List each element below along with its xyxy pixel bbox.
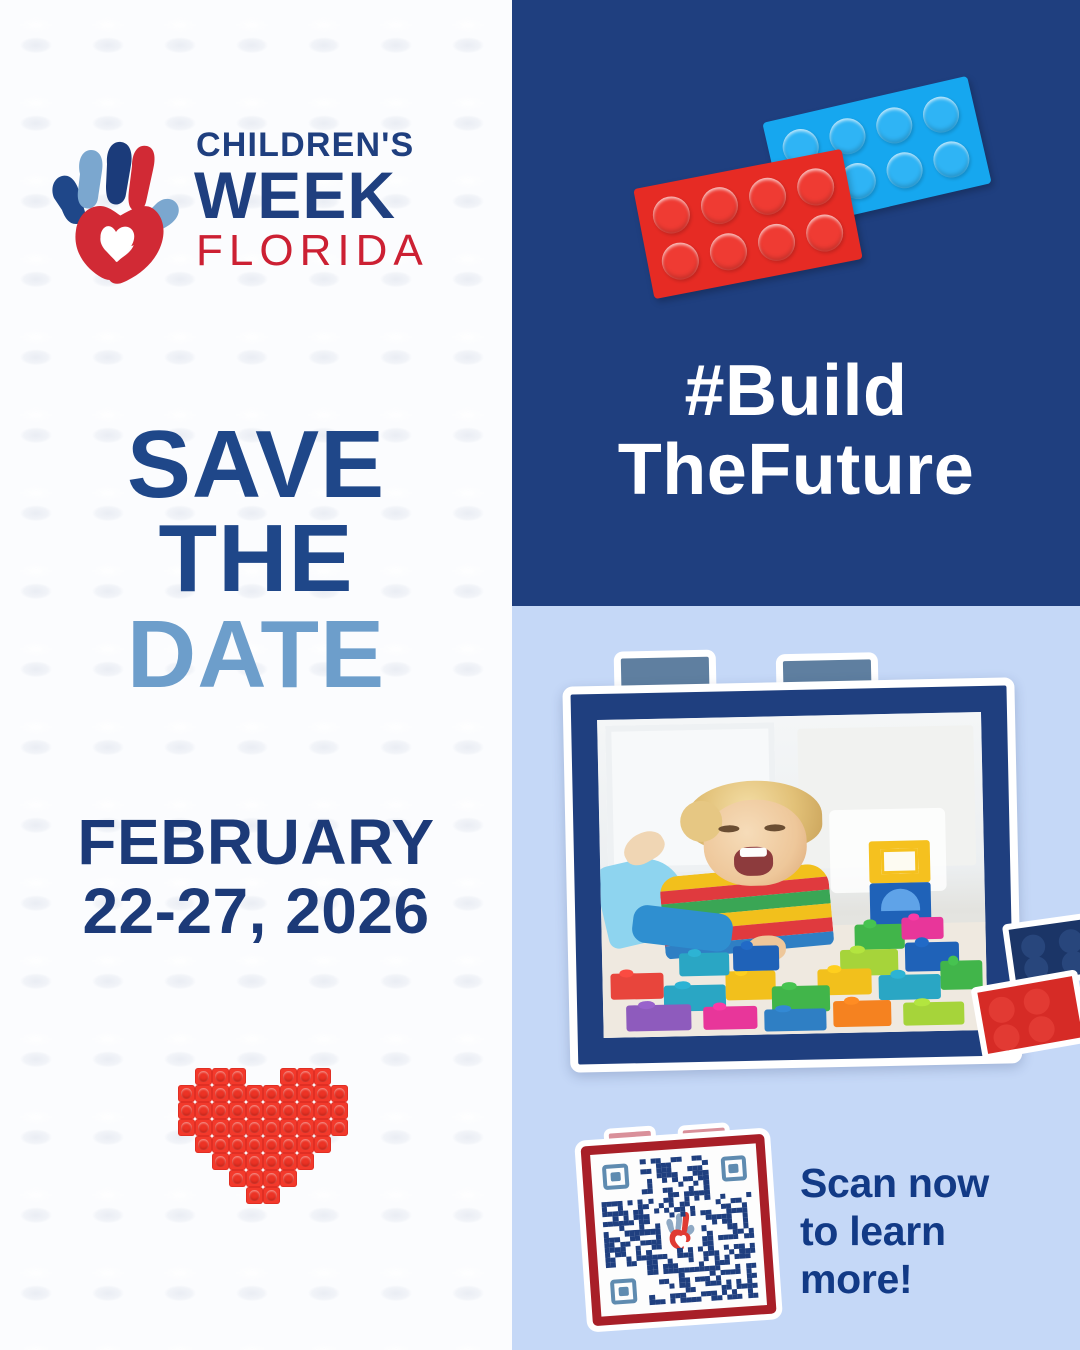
scan-call-to-action: Scan now to learn more! <box>800 1160 1070 1304</box>
heart-brick-cell <box>297 1102 314 1119</box>
heart-brick-cell <box>297 1153 314 1170</box>
hashtag-build-the-future: #Build TheFuture <box>512 352 1080 510</box>
qr-module <box>752 1282 758 1287</box>
heart-brick-cell <box>246 1119 263 1136</box>
heart-brick-cell <box>178 1119 195 1136</box>
qr-module <box>737 1294 743 1299</box>
event-dates: FEBRUARY 22-27, 2026 <box>0 808 512 946</box>
heart-brick-cell <box>331 1119 348 1136</box>
qr-module <box>643 1204 649 1209</box>
heart-brick-cell <box>229 1068 246 1085</box>
qr-module <box>648 1199 654 1204</box>
headline-line-save: SAVE <box>0 418 512 512</box>
heart-brick-cell <box>229 1170 246 1187</box>
qr-module <box>646 1169 652 1174</box>
qr-finder-icon <box>720 1155 747 1182</box>
heart-brick-cell <box>280 1102 297 1119</box>
qr-module <box>670 1213 676 1218</box>
heart-brick-cell <box>212 1119 229 1136</box>
brick-stud <box>991 1022 1021 1052</box>
heart-brick-cell <box>314 1085 331 1102</box>
heart-brick-cell <box>195 1085 212 1102</box>
heart-brick-cell <box>263 1170 280 1187</box>
qr-module <box>736 1269 742 1274</box>
logo-line-florida: FLORIDA <box>196 229 494 273</box>
poster-canvas: CHILDREN'S WEEK FLORIDA SAVE THE DATE FE… <box>0 0 1080 1350</box>
qr-code[interactable] <box>581 1134 777 1326</box>
heart-brick-cell <box>178 1085 195 1102</box>
heart-brick-cell <box>280 1153 297 1170</box>
heart-brick-cell <box>246 1085 263 1102</box>
qr-module <box>696 1297 702 1302</box>
qr-code-lego-brick[interactable] <box>579 1118 776 1326</box>
qr-module <box>680 1212 686 1217</box>
heart-brick-cell <box>297 1085 314 1102</box>
heart-brick-cell <box>229 1153 246 1170</box>
qr-module <box>662 1178 668 1183</box>
qr-module <box>660 1299 666 1304</box>
qr-module <box>752 1272 758 1277</box>
qr-module <box>751 1262 757 1267</box>
heart-brick-cell <box>280 1119 297 1136</box>
lego-heart <box>178 1068 346 1208</box>
qr-module <box>647 1189 653 1194</box>
heart-brick-cell <box>314 1068 331 1085</box>
qr-module <box>670 1298 676 1303</box>
heart-brick-cell <box>263 1153 280 1170</box>
qr-module <box>702 1160 708 1165</box>
heart-brick-cell <box>263 1085 280 1102</box>
heart-brick-cell <box>280 1085 297 1102</box>
heart-brick-cell <box>229 1102 246 1119</box>
qr-module <box>720 1194 726 1199</box>
hashtag-line-2: TheFuture <box>512 431 1080 510</box>
logo-wordmark: CHILDREN'S WEEK FLORIDA <box>194 128 494 273</box>
heart-brick-cell <box>195 1136 212 1153</box>
heart-brick-cell <box>263 1119 280 1136</box>
heart-brick-cell <box>314 1119 331 1136</box>
event-month: FEBRUARY <box>0 808 512 877</box>
heart-brick-cell <box>195 1102 212 1119</box>
qr-module <box>627 1200 633 1205</box>
heart-brick-cell <box>331 1085 348 1102</box>
headline-line-date: DATE <box>0 606 512 704</box>
heart-brick-cell <box>246 1153 263 1170</box>
event-days-year: 22-27, 2026 <box>0 877 512 946</box>
qr-module <box>644 1219 650 1224</box>
qr-module <box>693 1181 699 1186</box>
qr-module <box>694 1196 700 1201</box>
handprint-heart-icon <box>662 1211 698 1251</box>
heart-brick-cell <box>280 1136 297 1153</box>
childrens-week-florida-logo: CHILDREN'S WEEK FLORIDA <box>44 128 464 294</box>
qr-module <box>673 1192 679 1197</box>
heart-brick-cell <box>246 1187 263 1204</box>
qr-module <box>625 1241 631 1246</box>
child-playing-with-blocks-photo <box>597 712 988 1038</box>
qr-module <box>629 1220 635 1225</box>
heart-brick-cell <box>212 1153 229 1170</box>
logo-line-week: WEEK <box>194 164 494 227</box>
heart-brick-cell <box>263 1136 280 1153</box>
headline-line-the: THE <box>0 512 512 606</box>
qr-module <box>745 1253 751 1258</box>
qr-module <box>631 1261 637 1266</box>
heart-brick-cell <box>297 1068 314 1085</box>
qr-module <box>712 1220 718 1225</box>
heart-brick-cell <box>246 1102 263 1119</box>
qr-module <box>750 1247 756 1252</box>
handprint-heart-icon <box>44 136 184 288</box>
qr-module <box>640 1159 646 1164</box>
scan-line-3: more! <box>800 1256 1070 1304</box>
qr-module <box>705 1195 711 1200</box>
scan-line-1: Scan now <box>800 1160 1070 1208</box>
heart-brick-cell <box>246 1170 263 1187</box>
heart-brick-cell <box>229 1119 246 1136</box>
photo-frame-body <box>562 677 1022 1072</box>
photo-frame-lego-brick <box>562 643 1023 1072</box>
qr-module <box>753 1293 759 1298</box>
heart-brick-cell <box>280 1068 297 1085</box>
heart-brick-cell <box>212 1102 229 1119</box>
brick-stud <box>1022 987 1052 1017</box>
qr-module <box>611 1262 617 1267</box>
qr-module <box>690 1287 696 1292</box>
heart-brick-cell <box>263 1102 280 1119</box>
heart-brick-cell <box>314 1102 331 1119</box>
qr-module <box>704 1256 710 1261</box>
qr-finder-icon <box>602 1163 629 1190</box>
heart-brick-cell <box>246 1136 263 1153</box>
heart-brick-cell <box>297 1119 314 1136</box>
heart-brick-cell <box>229 1136 246 1153</box>
qr-module <box>746 1192 752 1197</box>
qr-module <box>717 1295 723 1300</box>
qr-module <box>690 1211 696 1216</box>
brick-stud <box>987 995 1017 1025</box>
hashtag-line-1: #Build <box>512 352 1080 431</box>
qr-module <box>725 1259 731 1264</box>
qr-module <box>669 1283 675 1288</box>
heart-brick-cell <box>280 1170 297 1187</box>
scan-line-2: to learn <box>800 1208 1070 1256</box>
logo-line-childrens: CHILDREN'S <box>196 128 494 162</box>
heart-brick-cell <box>331 1102 348 1119</box>
qr-module <box>688 1257 694 1262</box>
heart-brick-cell <box>297 1136 314 1153</box>
qr-module <box>653 1269 659 1274</box>
heart-brick-cell <box>212 1068 229 1085</box>
qr-module <box>654 1209 660 1214</box>
brick-stud <box>1027 1014 1057 1044</box>
heart-brick-cell <box>195 1068 212 1085</box>
heart-brick-cell <box>195 1119 212 1136</box>
heart-brick-cell <box>212 1136 229 1153</box>
qr-module <box>656 1244 662 1249</box>
heart-brick-cell <box>212 1085 229 1102</box>
heart-brick-cell <box>229 1085 246 1102</box>
right-top-navy-panel <box>512 0 1080 606</box>
save-the-date-headline: SAVE THE DATE <box>0 418 512 704</box>
qr-module <box>678 1182 684 1187</box>
qr-module <box>676 1157 682 1162</box>
heart-brick-cell <box>178 1102 195 1119</box>
qr-finder-icon <box>610 1278 637 1305</box>
qr-module <box>749 1232 755 1237</box>
qr-module <box>733 1233 739 1238</box>
heart-brick-cell <box>314 1136 331 1153</box>
heart-brick-cell <box>263 1187 280 1204</box>
